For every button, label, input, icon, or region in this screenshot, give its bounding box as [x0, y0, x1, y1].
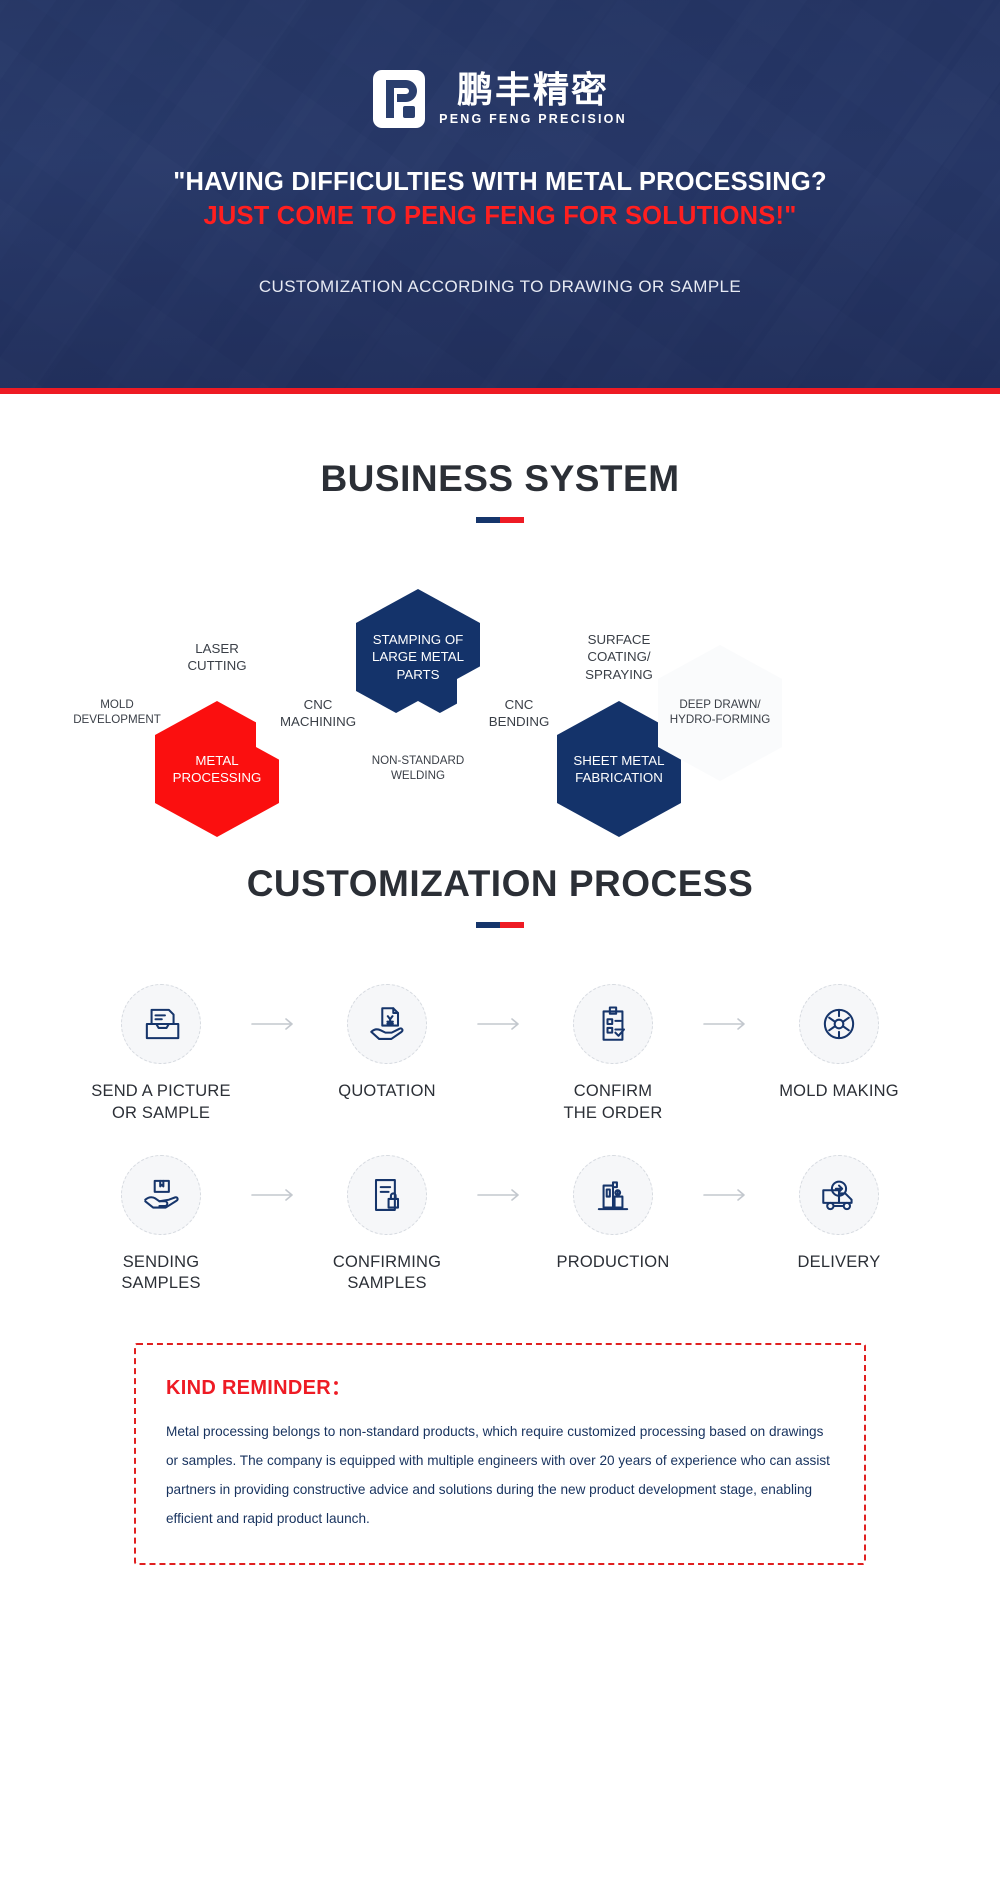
inbox-document-icon: [139, 1002, 183, 1046]
customization-process-title: CUSTOMIZATION PROCESS: [0, 863, 1000, 905]
customization-process-underline: [476, 922, 524, 928]
process-step[interactable]: SENDING SAMPLES: [77, 1155, 245, 1296]
hex-cell-label: CNC BENDING: [480, 696, 559, 730]
underline-navy-segment: [476, 922, 500, 928]
kind-reminder-title: KIND REMINDER：: [166, 1371, 834, 1400]
process-step-label: SEND A PICTURE OR SAMPLE: [91, 1081, 230, 1125]
hero-headline: "HAVING DIFFICULTIES WITH METAL PROCESSI…: [173, 166, 826, 233]
kind-reminder-body: Metal processing belongs to non-standard…: [166, 1418, 834, 1533]
headline-line-2: JUST COME TO PENG FENG FOR SOLUTIONS!": [173, 200, 826, 234]
hex-cell-label: SURFACE COATING/ SPRAYING: [576, 631, 662, 682]
hex-cell-label: MOLD DEVELOPMENT: [64, 698, 170, 728]
process-step-label: MOLD MAKING: [779, 1081, 899, 1103]
process-arrow-icon: [697, 1016, 755, 1032]
process-step[interactable]: DELIVERY: [755, 1155, 923, 1274]
process-step-circle: [121, 1155, 201, 1235]
process-step[interactable]: QUOTATION: [303, 984, 471, 1103]
process-step[interactable]: SEND A PICTURE OR SAMPLE: [77, 984, 245, 1125]
pf-monogram-logo-icon: [373, 70, 425, 128]
process-arrow-icon: [245, 1187, 303, 1203]
process-arrow-icon: [245, 1016, 303, 1032]
process-step-label: QUOTATION: [338, 1081, 435, 1103]
hex-cell-label: LASER CUTTING: [178, 640, 255, 674]
hex-cell-label: CNC MACHINING: [271, 696, 365, 730]
process-row-2: SENDING SAMPLESCONFIRMING SAMPLESPRODUCT…: [0, 1155, 1000, 1296]
process-arrow-icon: [697, 1187, 755, 1203]
process-step[interactable]: CONFIRMING SAMPLES: [303, 1155, 471, 1296]
business-system-hex-grid: MOLD DEVELOPMENTLASER CUTTINGMETAL PROCE…: [0, 567, 1000, 827]
hex-cell-label: DEEP DRAWN/ HYDRO-FORMING: [661, 698, 779, 728]
hex-cell-label: SHEET METAL FABRICATION: [564, 752, 673, 786]
process-step[interactable]: PRODUCTION: [529, 1155, 697, 1274]
hero-banner: 鹏丰精密 PENG FENG PRECISION "HAVING DIFFICU…: [0, 0, 1000, 394]
process-step[interactable]: CONFIRM THE ORDER: [529, 984, 697, 1125]
process-step-circle: [347, 984, 427, 1064]
underline-navy-segment: [476, 517, 500, 523]
process-step-circle: [347, 1155, 427, 1235]
underline-red-segment: [500, 922, 524, 928]
kind-reminder-box: KIND REMINDER： Metal processing belongs …: [134, 1343, 866, 1565]
hex-cell-label: NON-STANDARD WELDING: [363, 754, 474, 784]
customization-process-section: CUSTOMIZATION PROCESS SEND A PICTURE OR …: [0, 863, 1000, 1295]
factory-machine-icon: [591, 1173, 635, 1217]
process-step-label: CONFIRM THE ORDER: [564, 1081, 663, 1125]
process-arrow-icon: [471, 1187, 529, 1203]
process-row-1: SEND A PICTURE OR SAMPLEQUOTATIONCONFIRM…: [0, 984, 1000, 1125]
mold-disc-icon: [817, 1002, 861, 1046]
process-step-label: DELIVERY: [798, 1252, 881, 1274]
hand-quote-yen-icon: [365, 1002, 409, 1046]
business-system-underline: [476, 517, 524, 523]
process-step-circle: [573, 1155, 653, 1235]
process-step-label: CONFIRMING SAMPLES: [333, 1252, 441, 1296]
document-lock-icon: [365, 1173, 409, 1217]
process-step-circle: [799, 984, 879, 1064]
hero-red-rule: [0, 388, 1000, 394]
headline-line-1: "HAVING DIFFICULTIES WITH METAL PROCESSI…: [173, 166, 826, 200]
underline-red-segment: [500, 517, 524, 523]
business-system-section: BUSINESS SYSTEM MOLD DEVELOPMENTLASER CU…: [0, 458, 1000, 827]
hex-cell-label: METAL PROCESSING: [164, 752, 271, 786]
process-step[interactable]: MOLD MAKING: [755, 984, 923, 1103]
logo-chinese-name: 鹏丰精密: [457, 73, 609, 109]
process-step-label: PRODUCTION: [557, 1252, 670, 1274]
process-step-circle: [573, 984, 653, 1064]
process-step-circle: [799, 1155, 879, 1235]
clipboard-check-icon: [591, 1002, 635, 1046]
process-arrow-icon: [471, 1016, 529, 1032]
hex-cell-label: STAMPING OF LARGE METAL PARTS: [363, 631, 473, 682]
company-logo: 鹏丰精密 PENG FENG PRECISION: [373, 70, 627, 128]
delivery-truck-icon: [817, 1173, 861, 1217]
business-system-title: BUSINESS SYSTEM: [0, 458, 1000, 500]
process-step-circle: [121, 984, 201, 1064]
logo-english-name: PENG FENG PRECISION: [439, 113, 627, 126]
hero-subline: CUSTOMIZATION ACCORDING TO DRAWING OR SA…: [259, 277, 741, 297]
process-step-label: SENDING SAMPLES: [121, 1252, 200, 1296]
hand-package-icon: [139, 1173, 183, 1217]
